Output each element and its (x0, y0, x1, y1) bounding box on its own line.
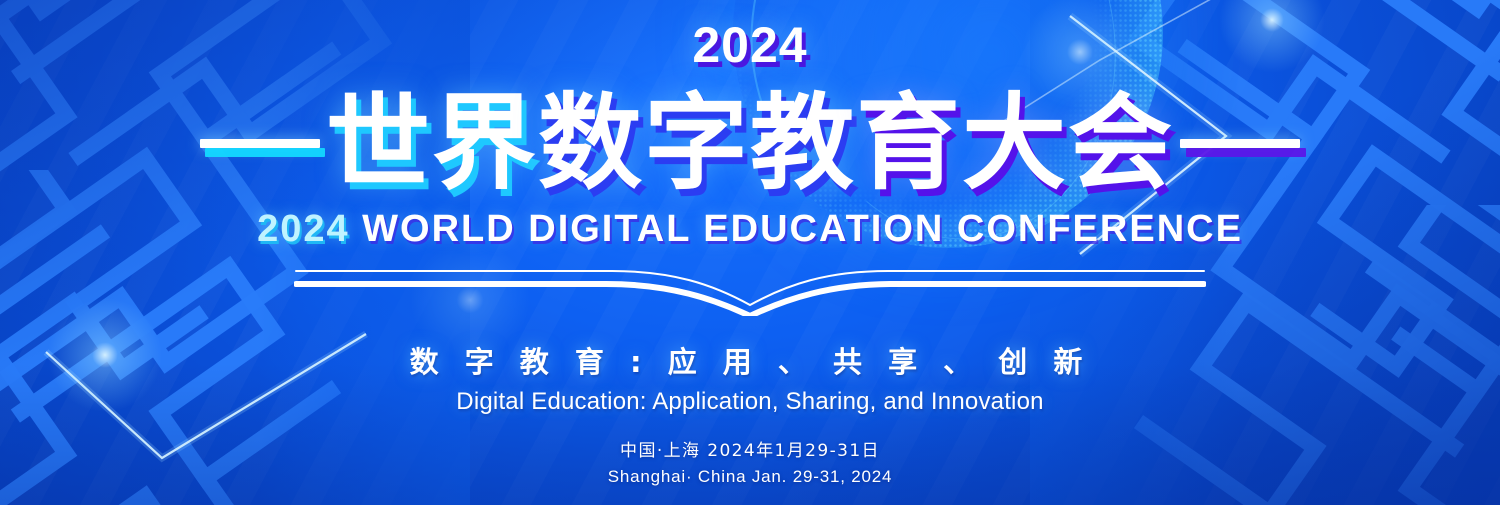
conference-banner: 2024 世界数字教育大会 2024 WORLD DIGITAL EDUCATI… (0, 0, 1500, 505)
year-heading: 2024 (0, 20, 1500, 70)
title-dash-right-icon (1180, 139, 1300, 148)
page-title: 世界数字教育大会 (326, 91, 1174, 195)
open-book-divider-icon (294, 258, 1206, 316)
title-segment-3: 育大会 (856, 82, 1174, 204)
location-date-english: Shanghai· China Jan. 29-31, 2024 (0, 466, 1500, 489)
title-segment-2: 数字教 (538, 82, 856, 204)
theme-english: Digital Education: Application, Sharing,… (0, 388, 1500, 417)
location-date-chinese: 中国·上海 2024年1月29-31日 (0, 440, 1500, 463)
main-title-row: 世界数字教育大会 (0, 82, 1500, 204)
title-english-rest: WORLD DIGITAL EDUCATION CONFERENCE (350, 208, 1243, 250)
title-segment-1: 世界 (326, 82, 538, 204)
banner-content: 2024 世界数字教育大会 2024 WORLD DIGITAL EDUCATI… (0, 0, 1500, 505)
theme-chinese: 数 字 教 育 : 应 用 、 共 享 、 创 新 (0, 348, 1500, 377)
page-title-english: 2024 WORLD DIGITAL EDUCATION CONFERENCE (0, 210, 1500, 248)
title-english-year: 2024 (257, 208, 350, 250)
title-dash-left-icon (200, 139, 320, 148)
